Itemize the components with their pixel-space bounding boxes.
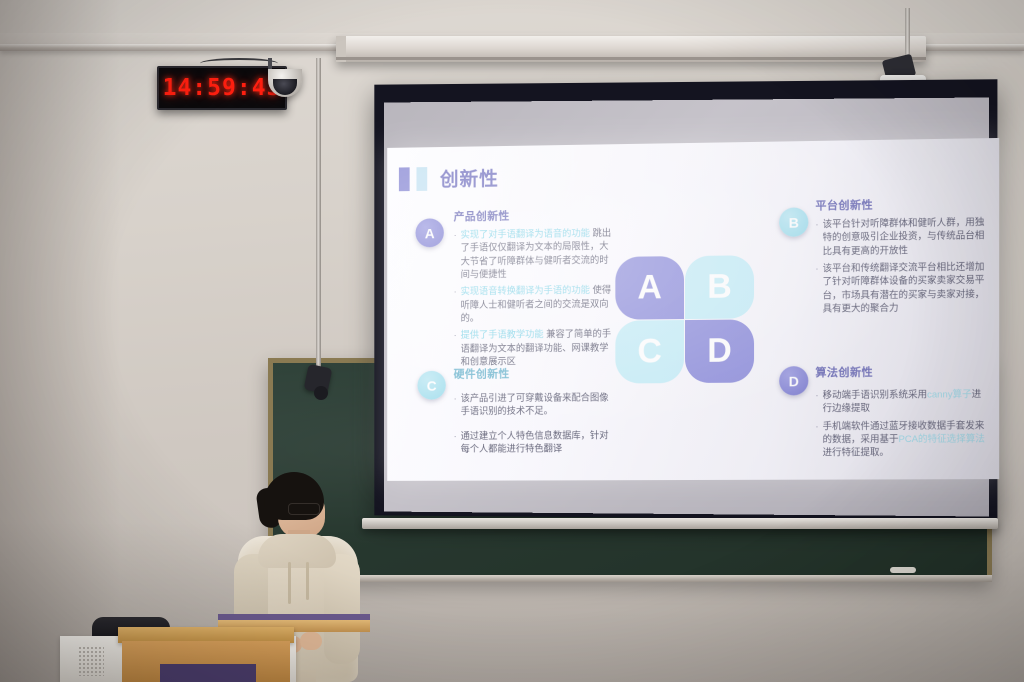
section-c-bullets: · 该产品引进了可穿戴设备来配合图像手语识别的技术不足。 · 通过建立个人特色信… (454, 390, 617, 455)
bullet-dot: · (815, 388, 818, 415)
petal-b: B (685, 255, 754, 319)
bullet-text: 提供了手语教学功能 兼容了简单的手语翻译为文本的翻译功能、网课教学和创意展示区 (461, 327, 617, 368)
presenter-drawstring-right (306, 562, 309, 600)
section-badge-d: D (779, 366, 808, 395)
section-badge-c: C (417, 371, 445, 400)
section-badge-d-letter: D (789, 373, 799, 389)
chalk-piece (890, 567, 916, 573)
bullet-highlight: canny算子 (927, 388, 972, 399)
speaker-left-grille (78, 646, 104, 676)
hanging-microphone-rod (316, 58, 321, 370)
bullet-dot: · (454, 429, 457, 455)
section-d: 算法创新性 · 移动端手语识别系统采用canny算子进行边缘提取 · 手机端软件… (815, 363, 986, 463)
bullet-item: · 实现了对手语翻译为语音的功能 跳出了手语仅仅翻译为文本的局限性，大大节省了听… (454, 226, 617, 281)
bullet-item: · 该平台针对听障群体和健听人群，用独特的创意吸引企业投资，与传统品台相比具有更… (815, 215, 990, 258)
bullet-highlight: 实现语音转换翻译为手语的功能 (461, 284, 590, 296)
bullet-dot: · (454, 228, 457, 281)
classroom-scene: 14:59:43 创新性 A 产品创新性 (0, 0, 1024, 682)
screen-housing-edge (336, 57, 926, 60)
bullet-body: 该产品引进了可穿戴设备来配合图像手语识别的技术不足。 (461, 390, 617, 417)
speaker-left (60, 636, 122, 682)
section-badge-b-letter: B (789, 214, 799, 230)
title-accent-bar-cyan (416, 167, 427, 191)
bullet-body: 进行特征提取。 (823, 447, 889, 458)
petal-c: C (615, 320, 684, 383)
section-badge-a-letter: A (425, 225, 435, 241)
section-b-bullets: · 该平台针对听障群体和健听人群，用独特的创意吸引企业投资，与传统品台相比具有更… (815, 215, 990, 315)
bullet-highlight: 提供了手语教学功能 (461, 329, 544, 341)
section-badge-c-letter: C (427, 377, 437, 393)
bullet-prefix: 移动端手语识别系统采用 (823, 388, 927, 400)
petal-d: D (685, 319, 754, 383)
bullet-highlight: PCA的特征选择算法 (898, 433, 984, 445)
section-c-heading: 硬件创新性 (454, 365, 617, 382)
abcd-flower-graphic: A B C D (615, 255, 755, 384)
bullet-item: · 该平台和传统翻译交流平台相比还增加了针对听障群体设备的买家卖家交易平台，市场… (815, 260, 990, 316)
bullet-dot: · (454, 392, 457, 418)
petal-b-letter: B (707, 268, 732, 307)
petal-a: A (615, 256, 684, 320)
projection-screen-bottom-bar (362, 518, 998, 529)
bullet-item: · 手机端软件通过蓝牙接收数据手套发来的数据，采用基于PCA的特征选择算法进行特… (815, 418, 986, 459)
petal-a-letter: A (637, 268, 661, 307)
slide-title-row: 创新性 (399, 164, 499, 192)
small-dome-camera-lens-icon (273, 79, 297, 95)
petal-d-letter: D (707, 332, 732, 371)
section-a-bullets: · 实现了对手语翻译为语音的功能 跳出了手语仅仅翻译为文本的局限性，大大节省了听… (454, 226, 617, 368)
bullet-item: · 通过建立个人特色信息数据库，针对每个人都能进行特色翻译 (454, 428, 617, 455)
bullet-dot: · (815, 262, 818, 316)
camera-mount-rod (905, 8, 910, 60)
section-d-bullets: · 移动端手语识别系统采用canny算子进行边缘提取 · 手机端软件通过蓝牙接收… (815, 387, 986, 459)
bullet-item: · 实现语音转换翻译为手语的功能 使得听障人士和健听者之间的交流是双向的。 (454, 283, 617, 324)
presenter-hood (258, 534, 336, 568)
presenter-drawstring-left (288, 562, 291, 604)
bullet-body: 该平台针对听障群体和健听人群，用独特的创意吸引企业投资，与传统品台相比具有更高的… (823, 215, 990, 257)
section-badge-a: A (415, 218, 443, 247)
presenter-sleeve-right (324, 554, 360, 664)
section-badge-b: B (779, 207, 808, 237)
section-b-heading: 平台创新性 (815, 195, 990, 214)
bullet-dot: · (454, 285, 457, 325)
petal-c-letter: C (637, 332, 661, 371)
bullet-body: 通过建立个人特色信息数据库，针对每个人都能进行特色翻译 (461, 428, 617, 455)
section-a-heading: 产品创新性 (454, 206, 617, 224)
bullet-text: 实现语音转换翻译为手语的功能 使得听障人士和健听者之间的交流是双向的。 (461, 283, 617, 324)
clock-time-display: 14:59:43 (163, 75, 282, 101)
bullet-item: · 提供了手语教学功能 兼容了简单的手语翻译为文本的翻译功能、网课教学和创意展示… (454, 327, 617, 368)
section-c: 硬件创新性 · 该产品引进了可穿戴设备来配合图像手语识别的技术不足。 · 通过建… (454, 365, 617, 460)
bullet-item: · 该产品引进了可穿戴设备来配合图像手语识别的技术不足。 (454, 390, 617, 417)
bullet-text: 手机端软件通过蓝牙接收数据手套发来的数据，采用基于PCA的特征选择算法进行特征提… (823, 418, 986, 459)
bullet-dot: · (454, 329, 457, 369)
section-a: 产品创新性 · 实现了对手语翻译为语音的功能 跳出了手语仅仅翻译为文本的局限性，… (454, 206, 617, 372)
presentation-slide: 创新性 A 产品创新性 · 实现了对手语翻译为语音的功能 跳出了手语仅仅翻译为文… (387, 138, 999, 481)
slide-title: 创新性 (440, 164, 499, 192)
bullet-item: · 移动端手语识别系统采用canny算子进行边缘提取 (815, 387, 986, 415)
bullet-dot: · (815, 419, 818, 459)
bullet-text: 移动端手语识别系统采用canny算子进行边缘提取 (823, 387, 986, 415)
bullet-highlight: 实现了对手语翻译为语音的功能 (461, 227, 590, 240)
bullet-dot: · (815, 217, 818, 257)
podium-front-panel (160, 664, 256, 682)
hanging-microphone-capsule-icon (314, 386, 328, 400)
chalk-tray (268, 575, 992, 582)
section-b: 平台创新性 · 该平台针对听障群体和健听人群，用独特的创意吸引企业投资，与传统品… (815, 195, 990, 319)
section-d-heading: 算法创新性 (815, 363, 986, 380)
presenter-glasses-icon (288, 503, 320, 515)
title-accent-bar-purple (399, 167, 410, 191)
bullet-body: 该平台和传统翻译交流平台相比还增加了针对听障群体设备的买家卖家交易平台，市场具有… (823, 260, 990, 316)
presenter-hand-right (300, 632, 322, 650)
bullet-text: 实现了对手语翻译为语音的功能 跳出了手语仅仅翻译为文本的局限性，大大节省了听障群… (461, 226, 617, 281)
